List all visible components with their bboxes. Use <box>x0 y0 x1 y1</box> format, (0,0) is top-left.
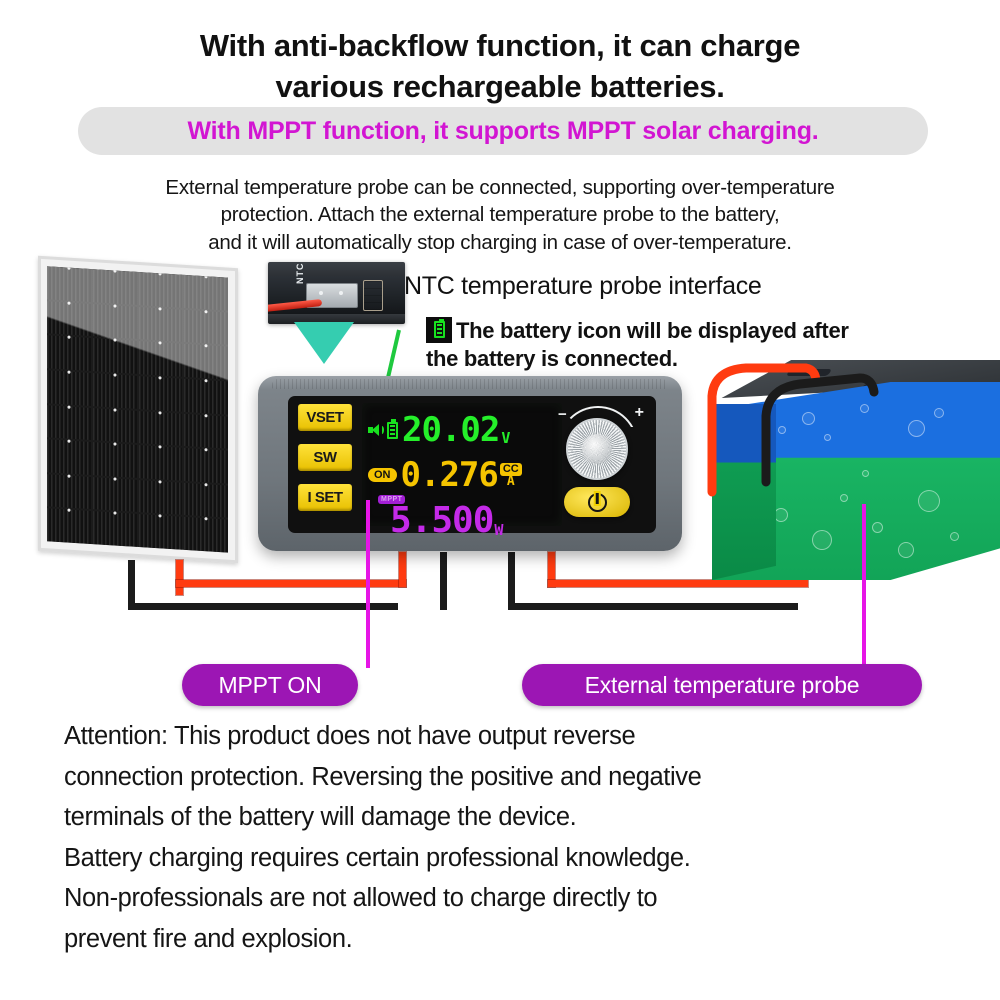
power-button[interactable] <box>564 487 630 517</box>
power-icon <box>588 493 607 512</box>
battery-terminal-wires <box>690 352 920 482</box>
power-unit: W <box>494 521 503 539</box>
rotary-encoder-knob[interactable] <box>566 418 628 480</box>
wire-device-output-negative <box>508 552 515 610</box>
intro-line-2: protection. Attach the external temperat… <box>45 201 955 228</box>
ntc-connector-photo: NTC <box>268 262 405 324</box>
wire-panel-positive-horizontal <box>176 580 406 587</box>
ntc-interface-label: NTC temperature probe interface <box>404 272 762 301</box>
device-control-area: − + <box>550 402 650 527</box>
knob-plus-label: + <box>635 404 644 422</box>
attention-line-5: Non-professionals are not allowed to cha… <box>64 878 1000 919</box>
power-row: MPPT 5.500 W <box>368 499 558 543</box>
mppt-badge: MPPT <box>378 495 405 504</box>
sw-button[interactable]: SW <box>298 444 352 471</box>
speaker-icon <box>368 423 382 437</box>
battery-negative-lead <box>766 378 874 482</box>
battery-note-line-1: The battery icon will be displayed after <box>456 318 849 343</box>
probe-leader-line <box>862 504 866 668</box>
ntc-pointer-triangle-icon <box>294 322 354 364</box>
infographic-canvas: With anti-backflow function, it can char… <box>0 0 1000 1000</box>
mppt-on-pill-label: MPPT ON <box>219 672 322 699</box>
lcd-screen: 20.02 V ON 0.276 CC A MPPT 5.500 W <box>362 403 562 526</box>
battery-note-line-2: the battery is connected. <box>426 346 678 371</box>
ntc-silkscreen-label: NTC <box>295 263 305 285</box>
intro-line-3: and it will automatically stop charging … <box>45 229 955 256</box>
wire-panel-positive-vertical <box>176 560 183 595</box>
cc-unit-group: CC A <box>500 463 522 488</box>
battery-icon <box>426 317 452 343</box>
vset-button[interactable]: VSET <box>298 404 352 431</box>
voltage-row: 20.02 V <box>368 409 558 451</box>
attention-line-4: Battery charging requires certain profes… <box>64 838 1000 879</box>
current-unit: A <box>507 476 515 488</box>
output-on-badge: ON <box>368 468 397 482</box>
current-row: ON 0.276 CC A <box>368 453 558 497</box>
ntc-white-connector <box>363 280 383 311</box>
attention-line-6: prevent fire and explosion. <box>64 919 1000 960</box>
attention-line-3: terminals of the battery will damage the… <box>64 797 1000 838</box>
knob-minus-label: − <box>558 406 567 423</box>
solar-cell-grid <box>47 266 228 552</box>
mppt-leader-line <box>366 500 370 668</box>
intro-paragraph: External temperature probe can be connec… <box>45 174 955 256</box>
device-button-column: VSET SW I SET <box>298 404 354 524</box>
external-probe-pill: External temperature probe <box>522 664 922 706</box>
intro-line-1: External temperature probe can be connec… <box>45 174 955 201</box>
solar-panel-image <box>38 256 238 564</box>
mppt-banner: With MPPT function, it supports MPPT sol… <box>78 107 928 155</box>
device-front-panel: VSET SW I SET 20.02 V ON 0.276 CC A <box>288 396 656 533</box>
attention-paragraph: Attention: This product does not have ou… <box>64 716 1000 959</box>
mppt-on-pill: MPPT ON <box>182 664 358 706</box>
mppt-banner-text: With MPPT function, it supports MPPT sol… <box>187 117 818 146</box>
iset-button[interactable]: I SET <box>298 484 352 511</box>
current-value: 0.276 <box>401 458 498 492</box>
wire-panel-negative-horizontal <box>128 603 398 610</box>
device-vent-strip <box>272 379 668 389</box>
headline-line-1: With anti-backflow function, it can char… <box>200 28 800 63</box>
power-value: 5.500 <box>390 503 493 539</box>
attention-line-2: connection protection. Reversing the pos… <box>64 757 1000 798</box>
voltage-unit: V <box>501 429 510 447</box>
power-supply-device: VSET SW I SET 20.02 V ON 0.276 CC A <box>258 376 682 551</box>
wire-device-input-negative <box>440 552 447 610</box>
attention-line-1: Attention: This product does not have ou… <box>64 716 1000 757</box>
page-title: With anti-backflow function, it can char… <box>0 26 1000 108</box>
wire-device-input-positive <box>399 552 406 587</box>
lcd-battery-icon <box>387 422 398 439</box>
external-probe-pill-label: External temperature probe <box>585 672 860 699</box>
voltage-value: 20.02 <box>402 413 499 447</box>
headline-line-2: various rechargeable batteries. <box>0 67 1000 108</box>
